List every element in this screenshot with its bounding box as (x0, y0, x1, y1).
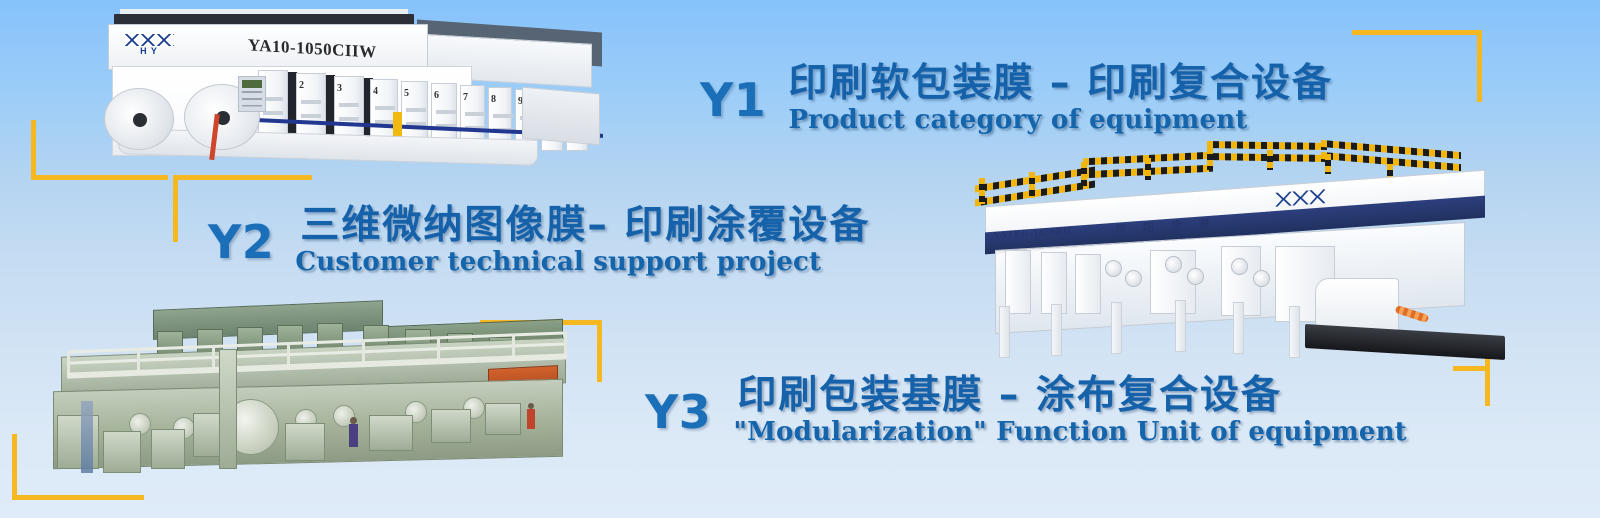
press-unit-number: 2 (299, 80, 304, 91)
banner-row-y2: Y2 三维微纳图像膜– 印刷涂覆设备 Customer technical su… (208, 205, 870, 277)
banner-row-y3: Y3 印刷包装基膜 – 涂布复合设备 "Modularization" Func… (645, 375, 1407, 447)
bracket-m3-left (12, 434, 17, 500)
press-unit-number: 5 (404, 88, 409, 99)
row-tag-y3: Y3 (645, 389, 711, 435)
row-tag-y2: Y2 (208, 219, 274, 265)
printing-press-image: H Y YA10-1050CIIW 1 2 3 4 5 6 7 8 9 (62, 8, 597, 173)
row-title-cn-y2: 三维微纳图像膜– 印刷涂覆设备 (300, 205, 870, 247)
press-brand-label: H Y (124, 34, 174, 56)
bracket-y1-top (1352, 30, 1482, 35)
banner-root: H Y YA10-1050CIIW 1 2 3 4 5 6 7 8 9 (0, 0, 1600, 518)
row-tag-y1: Y1 (700, 77, 766, 123)
row-title-cn-y1: 印刷软包装膜 – 印刷复合设备 (788, 63, 1333, 105)
bracket-m3-right (597, 320, 602, 382)
press-unit-number: 7 (463, 92, 468, 103)
bracket-m1-bottom (31, 175, 168, 180)
worker-figure (349, 417, 358, 447)
paper-machine-image (33, 305, 573, 485)
row-title-en-y2: Customer technical support project (295, 248, 870, 277)
row-title-en-y1: Product category of equipment (788, 106, 1333, 135)
bracket-m1-left (31, 120, 36, 180)
bracket-y2-left (173, 175, 178, 242)
press-unit-number: 8 (491, 94, 496, 105)
bracket-y1-right (1477, 30, 1482, 102)
row-title-cn-y3: 印刷包装基膜 – 涂布复合设备 (737, 375, 1407, 417)
row-title-en-y3: "Modularization" Function Unit of equipm… (733, 418, 1407, 447)
bracket-m3-bottom (12, 495, 144, 500)
worker-figure (527, 403, 535, 429)
bracket-m2-bottom2 (1453, 366, 1490, 371)
press-unit-number: 6 (434, 90, 439, 101)
banner-row-y1: Y1 印刷软包装膜 – 印刷复合设备 Product category of e… (700, 63, 1333, 135)
bracket-y2-top (173, 175, 312, 180)
press-unit-number: 3 (337, 83, 342, 94)
coating-machine-image: 华 阳 宝 誉 YATFG-1650BII (975, 150, 1510, 365)
press-unit-number: 4 (373, 86, 378, 97)
